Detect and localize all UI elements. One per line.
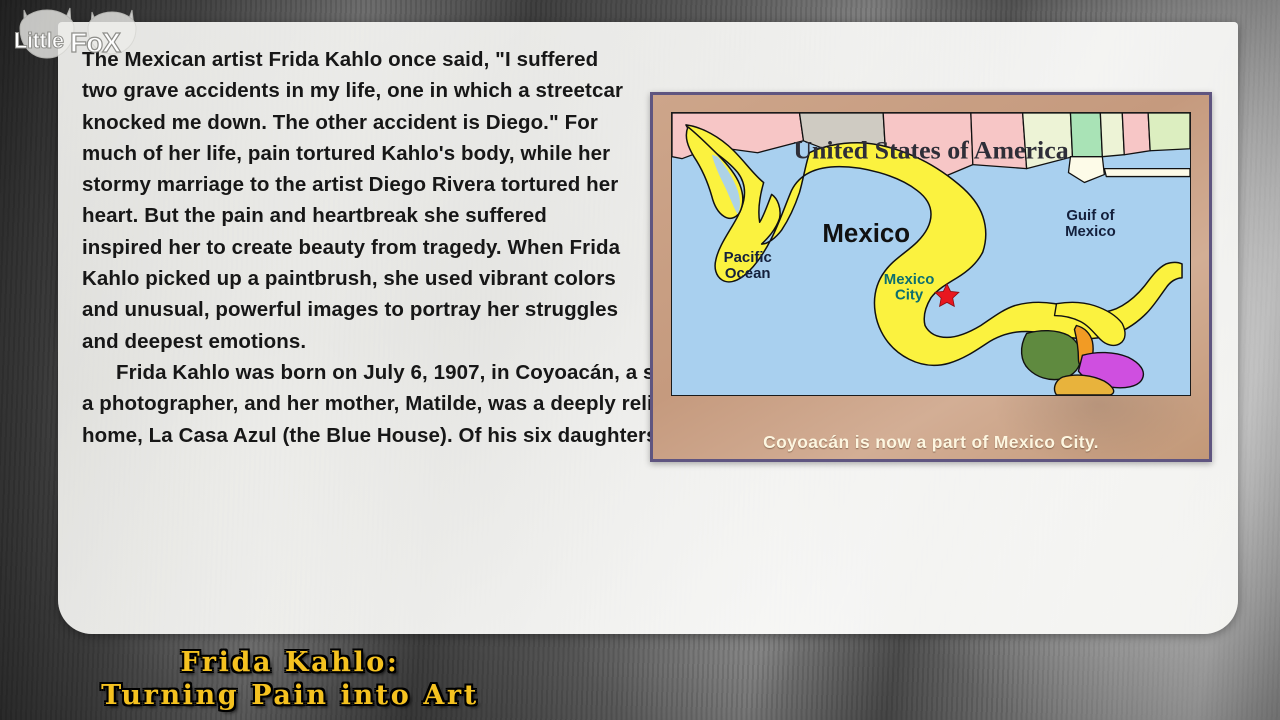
program-title-line-1: Frida Kahlo:	[10, 646, 570, 679]
logo-wordmark: Little	[14, 28, 64, 53]
logo-wordmark-fox: FoX	[70, 27, 121, 58]
map-caption: Coyoacán is now a part of Mexico City.	[653, 432, 1209, 453]
map-canvas: United States of America Mexico Guif of …	[671, 112, 1191, 396]
map-matte: United States of America Mexico Guif of …	[653, 95, 1209, 459]
map-figure: United States of America Mexico Guif of …	[650, 92, 1212, 462]
program-title-bar: Frida Kahlo: Turning Pain into Art	[0, 636, 1280, 720]
map-label-pacific-line2: Ocean	[725, 266, 771, 282]
fox-head-icon: Little FoX	[6, 2, 152, 64]
map-label-mexico-city-line2: City	[895, 288, 924, 304]
program-title-line-2: Turning Pain into Art	[10, 679, 570, 712]
program-title: Frida Kahlo: Turning Pain into Art	[10, 646, 570, 712]
map-label-usa: United States of America	[793, 136, 1068, 165]
map-label-mexico: Mexico	[822, 220, 910, 248]
little-fox-logo[interactable]: Little FoX	[6, 2, 152, 64]
map-label-gulf-line2: Mexico	[1065, 224, 1116, 240]
map-label-pacific-line1: Pacific	[724, 250, 772, 266]
map-label-mexico-city-line1: Mexico	[884, 272, 935, 288]
map-label-gulf-line1: Guif of	[1066, 208, 1114, 224]
article-paragraph-1: The Mexican artist Frida Kahlo once said…	[82, 44, 630, 357]
